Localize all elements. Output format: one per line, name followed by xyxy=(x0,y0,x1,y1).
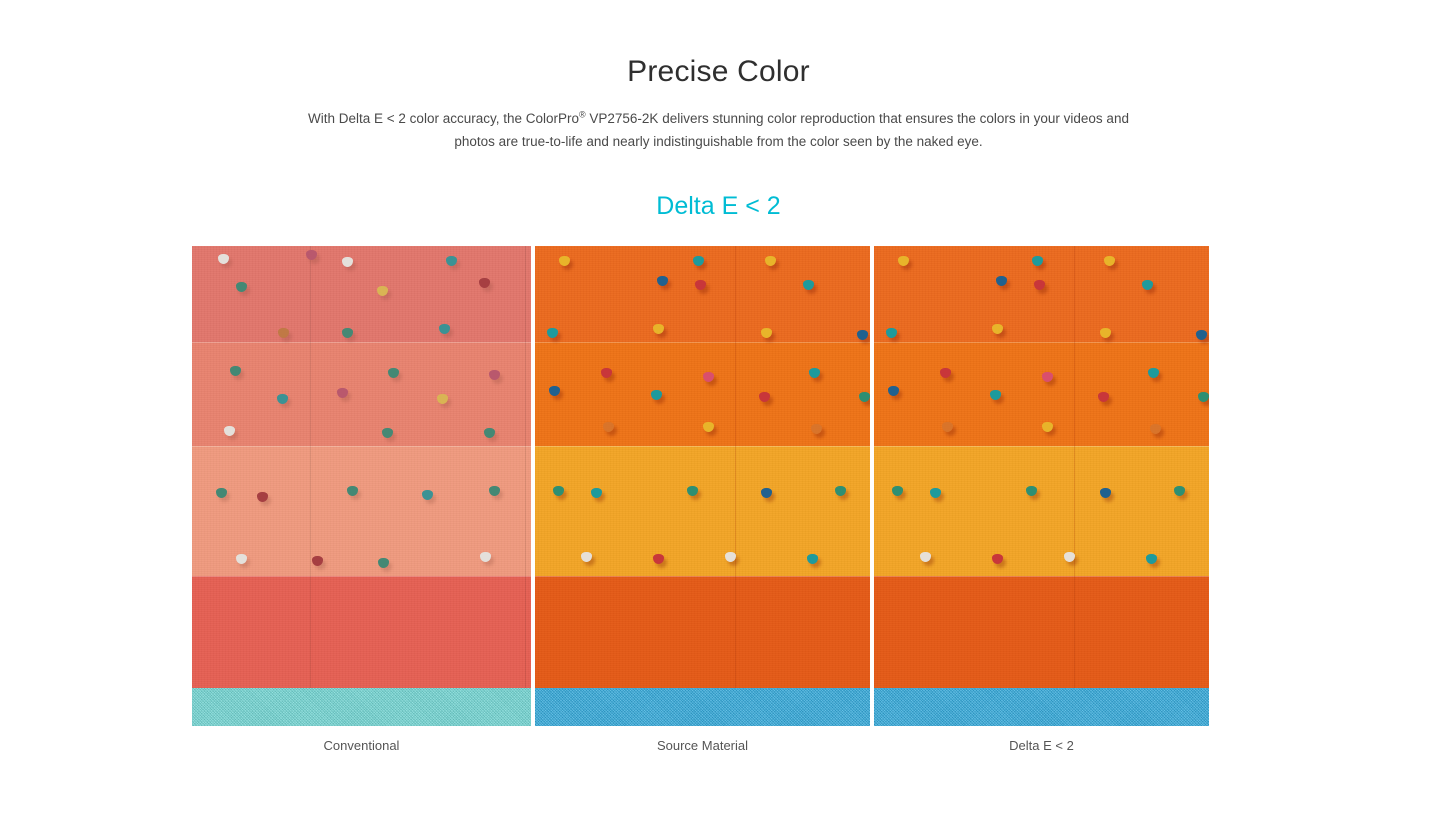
floor-surface xyxy=(874,688,1209,726)
wall-band-top xyxy=(192,246,531,342)
wall-seam-horizontal xyxy=(535,576,870,577)
registered-trademark-icon: ® xyxy=(579,110,586,120)
wall-seam-horizontal xyxy=(192,576,531,577)
wall-seam-horizontal xyxy=(535,446,870,447)
wall-seam-vertical xyxy=(1074,246,1075,688)
comparison-captions: Conventional Source Material Delta E < 2 xyxy=(192,738,1209,755)
color-comparison-strip xyxy=(192,246,1209,726)
floor-surface xyxy=(535,688,870,726)
comparison-panel-conventional xyxy=(192,246,531,726)
wall-seam-vertical xyxy=(735,246,736,688)
wall-seam-horizontal xyxy=(192,446,531,447)
subtitle-text-before-reg: With Delta E < 2 color accuracy, the Col… xyxy=(308,111,579,126)
wall-seam-horizontal xyxy=(874,576,1209,577)
page-subtitle: With Delta E < 2 color accuracy, the Col… xyxy=(304,108,1134,153)
header: Precise Color With Delta E < 2 color acc… xyxy=(0,0,1437,221)
delta-e-heading: Delta E < 2 xyxy=(0,191,1437,221)
caption-source-material: Source Material xyxy=(535,738,870,755)
floor-surface xyxy=(192,688,531,726)
page-title: Precise Color xyxy=(0,54,1437,90)
wall-band-lower xyxy=(874,576,1209,688)
wall-band-lower xyxy=(535,576,870,688)
wall-band-lower xyxy=(192,576,531,688)
wall-seam-horizontal xyxy=(874,446,1209,447)
precise-color-page: Precise Color With Delta E < 2 color acc… xyxy=(0,0,1437,830)
wall-band-upper-mid xyxy=(192,342,531,446)
wall-seam-vertical xyxy=(525,246,526,688)
comparison-panel-delta-e xyxy=(874,246,1209,726)
caption-delta-e: Delta E < 2 xyxy=(874,738,1209,755)
comparison-panel-source-material xyxy=(535,246,870,726)
wall-seam-vertical xyxy=(310,246,311,688)
wall-seam-horizontal xyxy=(874,342,1209,343)
wall-seam-horizontal xyxy=(192,342,531,343)
caption-conventional: Conventional xyxy=(192,738,531,755)
wall-seam-horizontal xyxy=(535,342,870,343)
